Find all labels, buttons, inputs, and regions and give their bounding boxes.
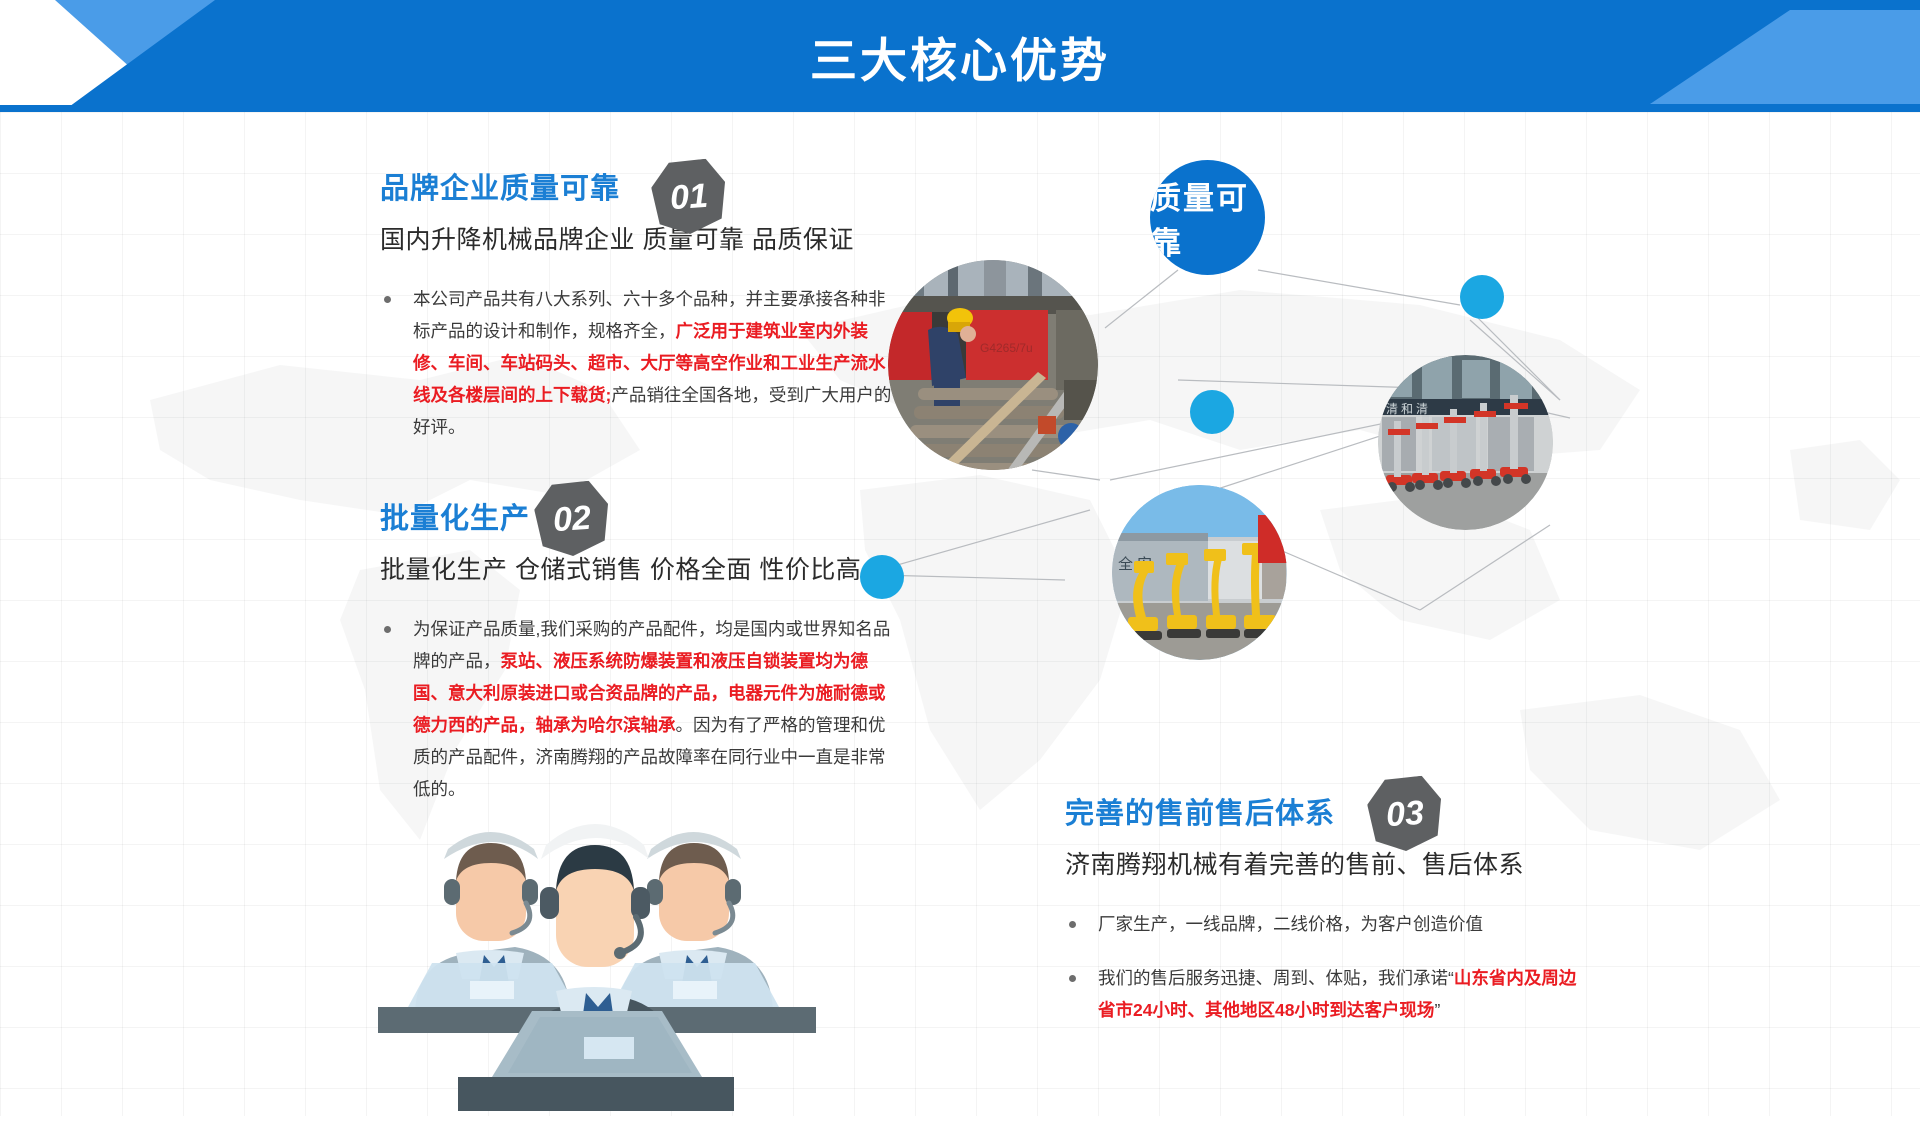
feature-01-title: 品牌企业质量可靠 (380, 160, 620, 218)
network-dot-center (1190, 390, 1234, 434)
call-center-illustration (360, 795, 830, 1116)
bullet-text: 为保证产品质量,我们采购的产品配件，均是国内或世界知名品牌的产品，泵站、液压系统… (413, 619, 890, 799)
bullet-text: 本公司产品共有八大系列、六十多个品种，并主要承接各种非标产品的设计和制作，规格齐… (413, 289, 891, 437)
bullet-dot-icon (1069, 921, 1076, 928)
list-item: 本公司产品共有八大系列、六十多个品种，并主要承接各种非标产品的设计和制作，规格齐… (380, 283, 900, 443)
feature-02-subtitle: 批量化生产 仓储式销售 价格全面 性价比高 (380, 550, 900, 586)
feature-02-title: 批量化生产 (380, 490, 530, 548)
bullet-text: 我们的售后服务迅捷、周到、体贴，我们承诺“山东省内及周边省市24小时、其他地区4… (1098, 968, 1576, 1020)
svg-text:G4265/7u: G4265/7u (980, 341, 1033, 355)
bullet-dot-icon (1069, 975, 1076, 982)
svg-text:清 和 清: 清 和 清 (1386, 402, 1428, 416)
photo-factory-worker: G4265/7u (888, 260, 1098, 470)
network-dot-bottom-left (860, 555, 904, 599)
feature-01-subtitle: 国内升降机械品牌企业 质量可靠 品质保证 (380, 220, 900, 256)
list-item: 厂家生产，一线品牌，二线价格，为客户创造价值 (1065, 908, 1585, 940)
bullet-dot-icon (384, 296, 391, 303)
feature-02-header: 批量化生产 02 (380, 490, 900, 548)
feature-01-bullets: 本公司产品共有八大系列、六十多个品种，并主要承接各种非标产品的设计和制作，规格齐… (380, 283, 900, 443)
feature-03-header: 完善的售前售后体系 03 (1065, 785, 1585, 843)
page-header-banner: 三大核心优势 (0, 0, 1920, 112)
network-hub-node: 质量可靠 (1150, 160, 1265, 275)
feature-02-number-badge: 02 (533, 480, 612, 559)
list-item: 为保证产品质量,我们采购的产品配件，均是国内或世界知名品牌的产品，泵站、液压系统… (380, 613, 900, 805)
photo-lifts-street: 清 和 清 (1378, 355, 1553, 530)
page-title: 三大核心优势 (0, 0, 1920, 112)
feature-block-01: 品牌企业质量可靠 01 国内升降机械品牌企业 质量可靠 品质保证 本公司产品共有… (380, 160, 900, 465)
bullet-dot-icon (384, 626, 391, 633)
feature-03-bullets: 厂家生产，一线品牌，二线价格，为客户创造价值 我们的售后服务迅捷、周到、体贴，我… (1065, 908, 1585, 1026)
feature-01-header: 品牌企业质量可靠 01 (380, 160, 900, 218)
list-item: 我们的售后服务迅捷、周到、体贴，我们承诺“山东省内及周边省市24小时、其他地区4… (1065, 962, 1585, 1026)
feature-block-02: 批量化生产 02 批量化生产 仓储式销售 价格全面 性价比高 为保证产品质量,我… (380, 490, 900, 827)
network-diagram: 质量可靠 G4265/7u (860, 150, 1920, 670)
feature-block-03: 完善的售前售后体系 03 济南腾翔机械有着完善的售前、售后体系 厂家生产，一线品… (1065, 785, 1585, 1048)
feature-03-title: 完善的售前售后体系 (1065, 785, 1335, 843)
feature-03-subtitle: 济南腾翔机械有着完善的售前、售后体系 (1065, 845, 1585, 881)
network-dot-top-right (1460, 275, 1504, 319)
photo-lifts-yard: 全 安 (1112, 485, 1287, 660)
feature-02-bullets: 为保证产品质量,我们采购的产品配件，均是国内或世界知名品牌的产品，泵站、液压系统… (380, 613, 900, 805)
bullet-text: 厂家生产，一线品牌，二线价格，为客户创造价值 (1098, 914, 1483, 934)
feature-03-number-badge: 03 (1366, 775, 1445, 854)
